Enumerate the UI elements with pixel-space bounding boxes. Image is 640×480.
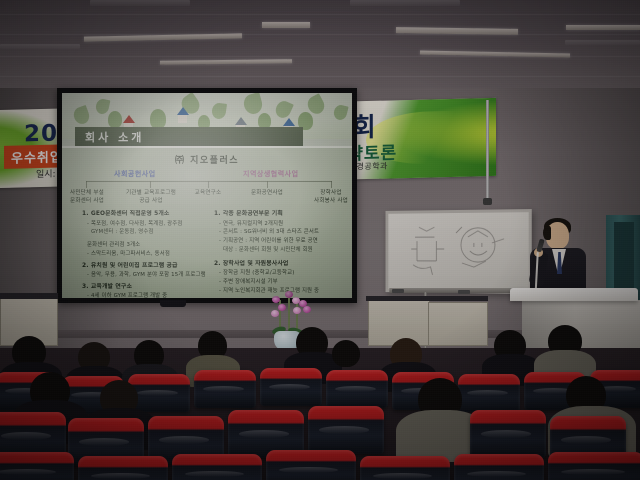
auditorium-seat[interactable] — [458, 374, 520, 412]
house-illustration — [178, 107, 187, 123]
orchid-bloom — [271, 310, 279, 317]
auditorium-seat[interactable] — [360, 456, 450, 480]
speaker-hair-side — [543, 226, 551, 240]
org-node: 기관별 교육프로그램공급 사업 — [124, 189, 178, 205]
org-node: 사민단체 부설문화센터 사업 — [64, 189, 110, 205]
wall-cabinet — [428, 302, 488, 346]
whiteboard — [386, 209, 532, 294]
photo-scene: 200 우수취업 일시: 2009. 수회 공전략토론 대학교 환경공학과 — [0, 0, 640, 480]
auditorium-seat[interactable] — [266, 450, 356, 480]
org-node: 교육연구소 — [186, 189, 230, 197]
auditorium-seat[interactable] — [326, 370, 388, 408]
attendee-head — [332, 340, 360, 367]
cabinet-top-trim — [366, 296, 488, 301]
projection-screen-frame: 회사 소개 ㈜ 지오플러스 사회공헌사업 지역상생협력사업 사민단체 부설문화센… — [57, 88, 357, 303]
ceiling-light-fixture — [160, 59, 292, 65]
slide-title-bar: 회사 소개 — [75, 127, 303, 146]
org-branch-label-left: 사회공헌사업 — [114, 169, 156, 179]
whiteboard-clip — [458, 290, 470, 294]
org-node: 문화공연사업 — [244, 189, 290, 197]
whiteboard-surface — [388, 212, 528, 291]
screen-housing — [160, 300, 186, 307]
orchid-bloom — [303, 306, 311, 313]
orchid-bloom — [285, 291, 293, 298]
banner-pole — [486, 100, 489, 204]
auditorium-seat[interactable] — [0, 452, 74, 480]
auditorium-seat[interactable] — [454, 454, 544, 480]
cabinet-top-trim — [0, 293, 58, 299]
banner-pole-base — [483, 198, 492, 205]
auditorium-seat[interactable] — [194, 370, 256, 408]
auditorium-seat[interactable] — [260, 368, 322, 406]
slide-body: ㈜ 지오플러스 사회공헌사업 지역상생협력사업 사민단체 부설문화센터 사업 기… — [62, 146, 352, 298]
slide-right-column: 1. 각종 문화공연부문 기획 - 연극, 뮤지컬지역 2개지원 - 콘서트 :… — [214, 210, 348, 295]
slide-title-text: 회사 소개 — [85, 129, 144, 145]
orchid-bloom — [272, 296, 280, 303]
org-branch-label-right: 지역상생협력사업 — [243, 169, 299, 179]
org-node: 장학사업사회봉사 사업 — [306, 189, 352, 205]
orchid-bloom — [278, 304, 286, 311]
auditorium-seat[interactable] — [172, 454, 262, 480]
ceiling — [0, 0, 640, 92]
ceiling-light-fixture — [262, 22, 310, 28]
podium-top — [510, 288, 638, 301]
auditorium-seat[interactable] — [308, 406, 384, 454]
auditorium-seat[interactable] — [470, 410, 546, 458]
whiteboard-clip — [392, 289, 404, 293]
projection-screen: 회사 소개 ㈜ 지오플러스 사회공헌사업 지역상생협력사업 사민단체 부설문화센… — [62, 93, 352, 298]
ceiling-light-fixture — [566, 25, 640, 30]
orchid-bloom — [293, 307, 301, 314]
slide-company-name: ㈜ 지오플러스 — [62, 153, 352, 166]
auditorium-seat[interactable] — [548, 452, 640, 480]
auditorium-seat[interactable] — [78, 456, 168, 480]
slide-left-column: 1. GEO문화센터 직접운영 5개소 - 목포점, 여수점, 다사점, 목계점… — [82, 210, 208, 298]
